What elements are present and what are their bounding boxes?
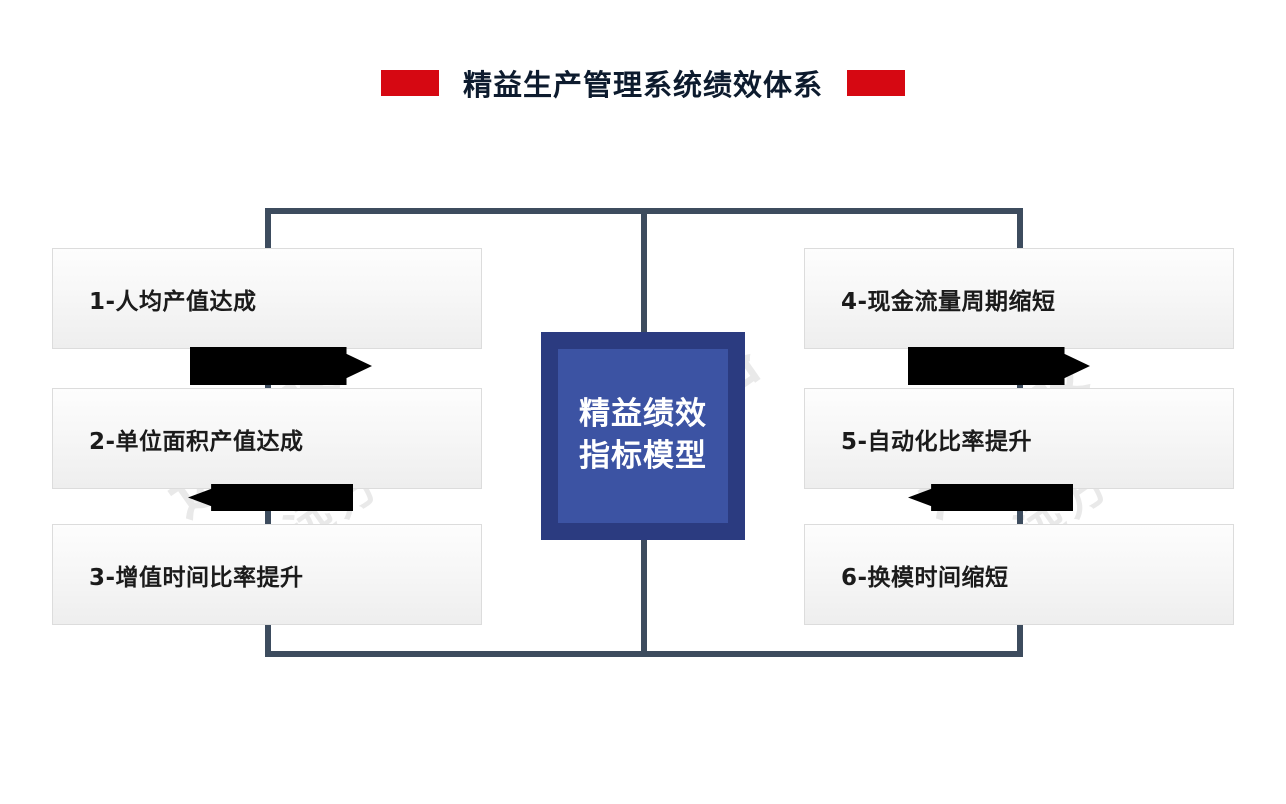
indicator-box-2[interactable]: 2-单位面积产值达成 — [52, 388, 482, 489]
page-title: 精益生产管理系统绩效体系 — [0, 60, 1286, 106]
page-title-text: 精益生产管理系统绩效体系 — [463, 62, 823, 104]
indicator-label-1: 1-人均产值达成 — [53, 282, 257, 316]
indicator-label-6: 6-换模时间缩短 — [805, 558, 1009, 592]
indicator-box-1[interactable]: 1-人均产值达成 — [52, 248, 482, 349]
indicator-box-6[interactable]: 6-换模时间缩短 — [804, 524, 1234, 625]
indicator-label-3: 3-增值时间比率提升 — [53, 558, 304, 592]
indicator-box-3[interactable]: 3-增值时间比率提升 — [52, 524, 482, 625]
redaction-bar-3 — [908, 347, 1090, 385]
center-model-box[interactable]: 精益绩效 指标模型 — [541, 332, 745, 540]
title-accent-bar-left — [381, 70, 439, 96]
redaction-bar-4 — [908, 484, 1073, 511]
indicator-box-4[interactable]: 4-现金流量周期缩短 — [804, 248, 1234, 349]
center-model-line-2: 指标模型 — [579, 436, 707, 478]
center-model-line-1: 精益绩效 — [579, 394, 707, 436]
redaction-bar-1 — [190, 347, 372, 385]
title-accent-bar-right — [847, 70, 905, 96]
indicator-box-5[interactable]: 5-自动化比率提升 — [804, 388, 1234, 489]
indicator-label-2: 2-单位面积产值达成 — [53, 422, 304, 456]
redaction-bar-2 — [188, 484, 353, 511]
center-model-inner: 精益绩效 指标模型 — [558, 349, 728, 523]
connector-top-center-drop — [641, 208, 647, 332]
indicator-label-5: 5-自动化比率提升 — [805, 422, 1032, 456]
indicator-label-4: 4-现金流量周期缩短 — [805, 282, 1056, 316]
connector-bottom-center-riser — [641, 536, 647, 657]
